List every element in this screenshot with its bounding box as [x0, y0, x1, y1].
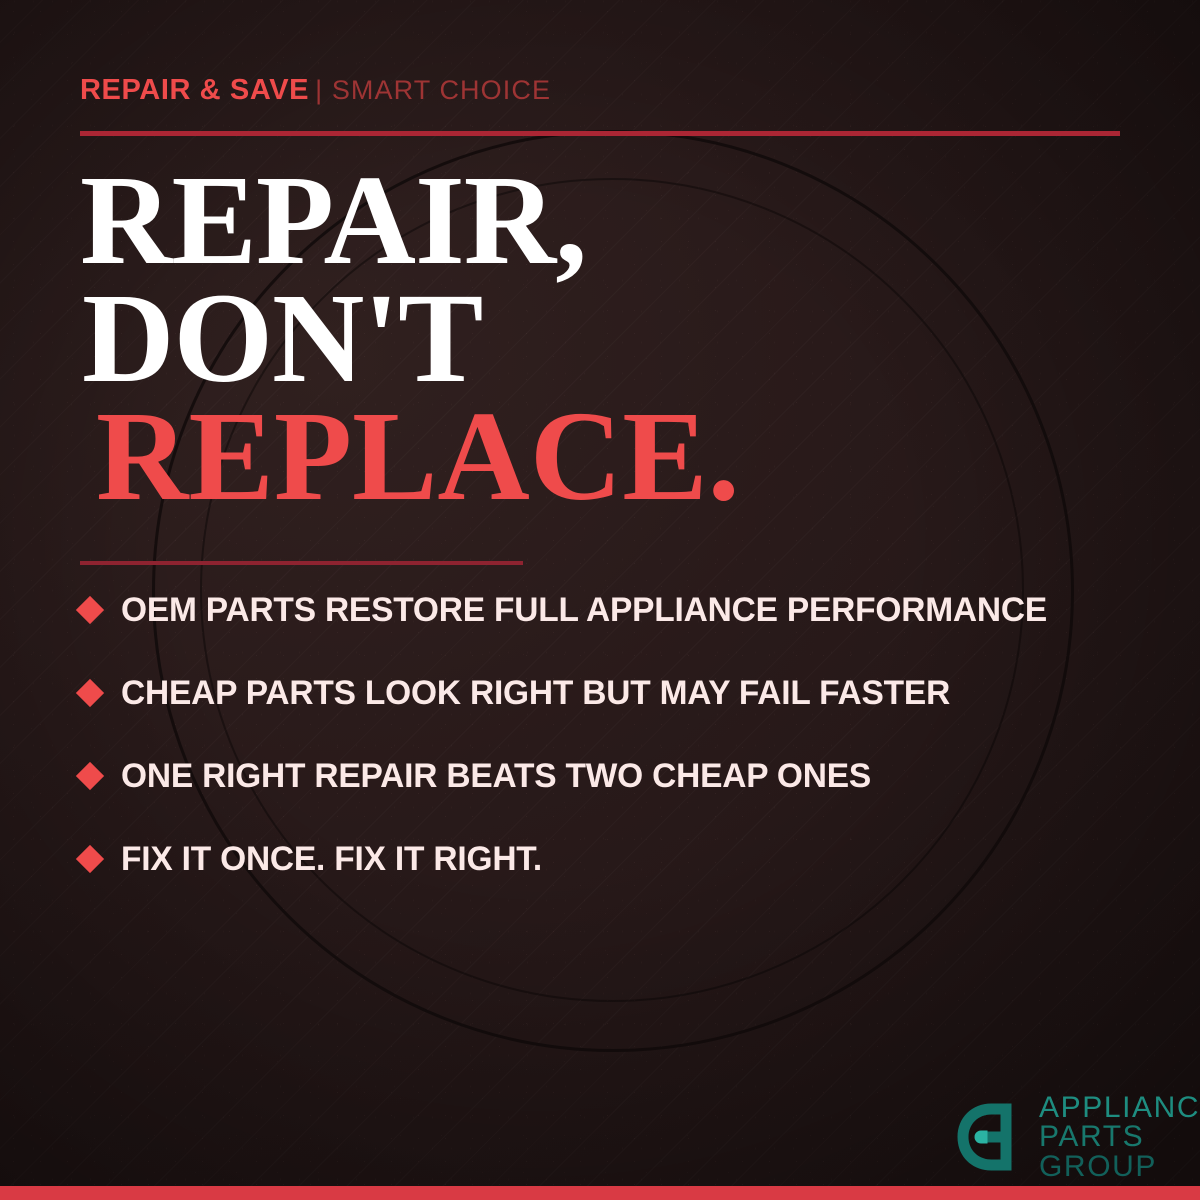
brand-logo-line-2: PARTS: [1039, 1122, 1200, 1151]
diamond-bullet-icon: [76, 762, 104, 790]
poster-content: REPAIR & SAVE| SMART CHOICE REPAIR, DON'…: [0, 0, 1200, 1200]
apg-g-monogram-icon: [953, 1099, 1029, 1175]
list-item: FIX IT ONCE. FIX IT RIGHT.: [80, 837, 1150, 881]
header-divider-rule: [80, 131, 1120, 136]
promo-poster: REPAIR & SAVE| SMART CHOICE REPAIR, DON'…: [0, 0, 1200, 1200]
eyebrow-light-text: | SMART CHOICE: [315, 75, 551, 105]
benefit-list: OEM PARTS RESTORE FULL APPLIANCE PERFORM…: [80, 588, 1150, 881]
diamond-bullet-icon: [76, 845, 104, 873]
headline-line-1: REPAIR,: [80, 162, 740, 280]
brand-logo-line-1: APPLIANCE: [1039, 1093, 1200, 1122]
brand-logo-line-3: GROUP: [1039, 1152, 1200, 1181]
list-item-label: FIX IT ONCE. FIX IT RIGHT.: [121, 840, 542, 879]
headline-line-3: REPLACE.: [96, 398, 740, 516]
list-item-label: OEM PARTS RESTORE FULL APPLIANCE PERFORM…: [121, 591, 1047, 630]
headline: REPAIR, DON'T REPLACE.: [80, 162, 740, 515]
list-item: ONE RIGHT REPAIR BEATS TWO CHEAP ONES: [80, 754, 1150, 798]
list-item: OEM PARTS RESTORE FULL APPLIANCE PERFORM…: [80, 588, 1150, 632]
headline-line-2: DON'T: [82, 280, 740, 398]
list-item-label: CHEAP PARTS LOOK RIGHT BUT MAY FAIL FAST…: [121, 674, 950, 713]
eyebrow-strong-text: REPAIR & SAVE: [80, 74, 309, 106]
headline-divider-rule: [80, 561, 523, 565]
list-item-label: ONE RIGHT REPAIR BEATS TWO CHEAP ONES: [121, 757, 871, 796]
diamond-bullet-icon: [76, 596, 104, 624]
brand-logo: APPLIANCE PARTS GROUP: [953, 1093, 1200, 1181]
brand-logo-wordmark: APPLIANCE PARTS GROUP: [1039, 1093, 1200, 1181]
bottom-accent-bar: [0, 1186, 1200, 1200]
list-item: CHEAP PARTS LOOK RIGHT BUT MAY FAIL FAST…: [80, 671, 1150, 715]
diamond-bullet-icon: [76, 679, 104, 707]
eyebrow: REPAIR & SAVE| SMART CHOICE: [80, 74, 551, 107]
